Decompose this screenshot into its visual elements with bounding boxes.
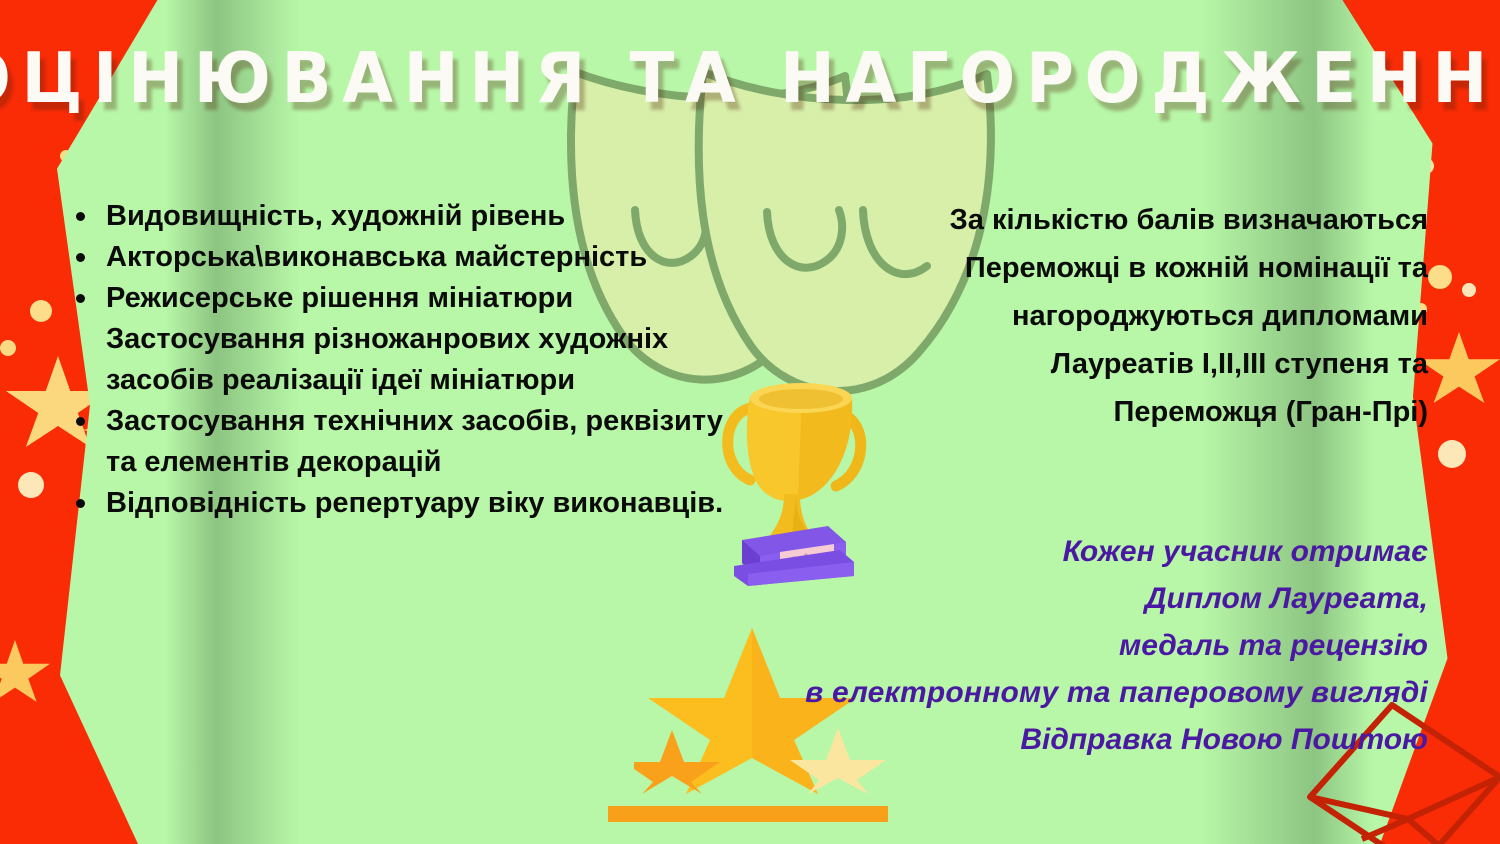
- list-item-label: Відповідність репертуару віку виконавців…: [106, 487, 723, 519]
- delivery-line-3: медаль та рецензію: [628, 622, 1428, 669]
- list-item: Застосування різножанрових художніх засо…: [64, 319, 724, 401]
- delivery-info-block: Кожен учасник отримає Диплом Лауреата, м…: [628, 528, 1428, 763]
- list-item-label: Акторська\виконавська майстерність: [106, 241, 647, 273]
- list-item-label: Режисерське рішення мініатюри: [106, 282, 573, 314]
- delivery-line-4: в електронному та паперовому вигляді: [628, 669, 1428, 716]
- list-item-label: Застосування різножанрових художніх засо…: [106, 323, 668, 396]
- bullet-dot-icon: [76, 253, 85, 262]
- awards-paragraph: За кількістю балів визначаються Переможц…: [888, 196, 1428, 436]
- criteria-column: Видовищність, художній рівень Акторська\…: [64, 196, 724, 524]
- delivery-line-2: Диплом Лауреата,: [628, 575, 1428, 622]
- orange-divider-bar: [608, 806, 888, 822]
- bullet-dot-icon: [76, 417, 85, 426]
- list-item: Видовищність, художній рівень: [64, 196, 724, 237]
- list-item-label: Застосування технічних засобів, реквізит…: [106, 405, 723, 478]
- criteria-list: Видовищність, художній рівень Акторська\…: [64, 196, 724, 524]
- bullet-dot-icon: [76, 499, 85, 508]
- bullet-dot-icon: [76, 212, 85, 221]
- page-title: ОЦІНЮВАННЯ ТА НАГОРОДЖЕННЯ: [0, 44, 1500, 113]
- list-item: Акторська\виконавська майстерність: [64, 237, 724, 278]
- slide-root: ОЦІНЮВАННЯ ТА НАГОРОДЖЕННЯ Видовищність,…: [0, 0, 1500, 844]
- bullet-dot-icon: [76, 294, 85, 303]
- delivery-line-5: Відправка Новою Поштою: [628, 716, 1428, 763]
- delivery-line-1: Кожен учасник отримає: [628, 528, 1428, 575]
- list-item: Режисерське рішення мініатюри: [64, 278, 724, 319]
- list-item: Відповідність репертуару віку виконавців…: [64, 483, 724, 524]
- list-item-label: Видовищність, художній рівень: [106, 200, 565, 232]
- list-item: Застосування технічних засобів, реквізит…: [64, 401, 724, 483]
